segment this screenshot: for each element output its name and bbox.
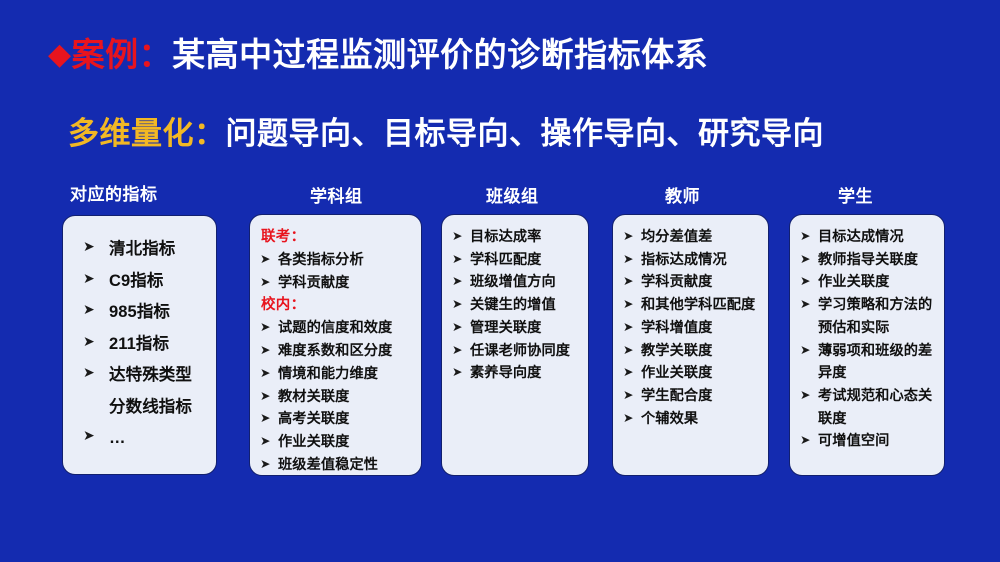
page-title-main: 某高中过程监测评价的诊断指标体系: [172, 38, 708, 74]
chevron-right-icon: ➤: [260, 455, 271, 474]
card-corresponding-indicators: ➤清北指标➤C9指标➤985指标➤211指标➤达特殊类型➤分数线指标➤…: [62, 215, 217, 475]
list-item[interactable]: ➤薄弱项和班级的差: [798, 341, 936, 363]
list-item[interactable]: ➤教师指导关联度: [798, 250, 936, 272]
chevron-right-icon: ➤: [623, 318, 634, 337]
list-item-label: 考试规范和心态关: [818, 388, 932, 404]
list-item[interactable]: ➤指标达成情况: [621, 250, 760, 272]
chevron-right-icon: ➤: [260, 318, 271, 337]
card-item-list: ➤清北指标➤C9指标➤985指标➤211指标➤达特殊类型➤分数线指标➤…: [75, 234, 208, 454]
list-item[interactable]: ➤各类指标分析: [258, 250, 413, 272]
list-item[interactable]: ➤作业关联度: [258, 432, 413, 454]
list-item[interactable]: ➤作业关联度: [798, 272, 936, 294]
chevron-right-icon: ➤: [800, 431, 811, 450]
list-item-label: 关键生的增值: [470, 297, 556, 313]
chevron-right-icon: ➤: [83, 234, 95, 260]
chevron-right-icon: ➤: [452, 272, 463, 291]
chevron-right-icon: ➤: [260, 341, 271, 360]
list-item[interactable]: ➤教材关联度: [258, 387, 413, 409]
list-item-label: 可增值空间: [818, 433, 889, 449]
list-item-label: 学科贡献度: [641, 274, 712, 290]
column-header-subject-group: 学科组: [310, 182, 363, 207]
list-item[interactable]: ➤学科增值度: [621, 318, 760, 340]
list-item[interactable]: ➤211指标: [75, 329, 208, 360]
chevron-right-icon: ➤: [452, 318, 463, 337]
list-item[interactable]: ➤和其他学科匹配度: [621, 295, 760, 317]
list-item[interactable]: ➤难度系数和区分度: [258, 341, 413, 363]
chevron-right-icon: ➤: [623, 386, 634, 405]
list-item-label: 预估和实际: [818, 320, 889, 336]
page-title-prefix: 案例：: [72, 38, 173, 74]
chevron-right-icon: ➤: [623, 341, 634, 360]
list-item-label: 联度: [818, 411, 847, 427]
list-item-label: 学科增值度: [641, 320, 712, 336]
list-item-label: 班级差值稳定性: [278, 457, 378, 473]
list-item-label: 薄弱项和班级的差: [818, 343, 932, 359]
list-item-label: 均分差值差: [641, 229, 712, 245]
list-item-label: 学生配合度: [641, 388, 712, 404]
list-item[interactable]: ➤学生配合度: [621, 386, 760, 408]
list-item[interactable]: ➤班级差值稳定性: [258, 455, 413, 476]
list-item[interactable]: ➤个辅效果: [621, 409, 760, 431]
list-item-label: 作业关联度: [278, 434, 349, 450]
list-item-label: 管理关联度: [470, 320, 541, 336]
card-student: ➤目标达成情况➤教师指导关联度➤作业关联度➤学习策略和方法的➤预估和实际➤薄弱项…: [789, 214, 945, 476]
list-item[interactable]: ➤素养导向度: [450, 363, 580, 385]
list-item[interactable]: ➤分数线指标: [75, 392, 208, 423]
chevron-right-icon: ➤: [83, 266, 95, 292]
chevron-right-icon: ➤: [452, 295, 463, 314]
card-section-heading: 校内：: [261, 295, 413, 316]
chevron-right-icon: ➤: [623, 227, 634, 246]
list-item[interactable]: ➤目标达成情况: [798, 227, 936, 249]
chevron-right-icon: ➤: [623, 272, 634, 291]
page-subtitle: 多维量化：问题导向、目标导向、操作导向、研究导向: [68, 108, 824, 153]
list-item-label: C9指标: [109, 272, 164, 290]
list-item[interactable]: ➤高考关联度: [258, 409, 413, 431]
list-item[interactable]: ➤试题的信度和效度: [258, 318, 413, 340]
chevron-right-icon: ➤: [83, 423, 95, 449]
list-item-label: 目标达成情况: [818, 229, 904, 245]
list-item[interactable]: ➤学科贡献度: [621, 272, 760, 294]
chevron-right-icon: ➤: [260, 387, 271, 406]
column-header-teacher: 教师: [665, 182, 700, 207]
card-subject-group: 联考：➤各类指标分析➤学科贡献度校内：➤试题的信度和效度➤难度系数和区分度➤情境…: [249, 214, 422, 476]
card-section-heading: 联考：: [261, 227, 413, 248]
chevron-right-icon: ➤: [623, 295, 634, 314]
chevron-right-icon: ➤: [800, 227, 811, 246]
list-item-label: 素养导向度: [470, 365, 541, 381]
list-item-label: 指标达成情况: [641, 252, 727, 268]
chevron-right-icon: ➤: [452, 227, 463, 246]
page-subtitle-main: 问题导向、目标导向、操作导向、研究导向: [226, 116, 825, 151]
chevron-right-icon: ➤: [260, 409, 271, 428]
chevron-right-icon: ➤: [623, 409, 634, 428]
chevron-right-icon: ➤: [800, 295, 811, 314]
list-item[interactable]: ➤班级增值方向: [450, 272, 580, 294]
page-subtitle-prefix: 多维量化：: [68, 116, 226, 151]
card-item-list: ➤目标达成情况➤教师指导关联度➤作业关联度➤学习策略和方法的➤预估和实际➤薄弱项…: [798, 227, 936, 453]
chevron-right-icon: ➤: [452, 250, 463, 269]
list-item-label: 教学关联度: [641, 343, 712, 359]
card-item-list: ➤各类指标分析➤学科贡献度: [258, 250, 413, 294]
list-item-label: 分数线指标: [109, 398, 192, 416]
list-item-label: 情境和能力维度: [278, 366, 378, 382]
list-item[interactable]: ➤考试规范和心态关: [798, 386, 936, 408]
list-item[interactable]: ➤联度: [798, 409, 936, 431]
chevron-right-icon: ➤: [800, 341, 811, 360]
chevron-right-icon: ➤: [83, 329, 95, 355]
list-item-label: 作业关联度: [641, 365, 712, 381]
list-item-label: 教材关联度: [278, 389, 349, 405]
list-item[interactable]: ➤…: [75, 423, 208, 454]
list-item-label: 达特殊类型: [109, 366, 192, 384]
chevron-right-icon: ➤: [260, 273, 271, 292]
list-item-label: 和其他学科匹配度: [641, 297, 755, 313]
chevron-right-icon: ➤: [83, 360, 95, 386]
list-item[interactable]: ➤学科匹配度: [450, 250, 580, 272]
chevron-right-icon: ➤: [800, 386, 811, 405]
chevron-right-icon: ➤: [452, 341, 463, 360]
list-item[interactable]: ➤教学关联度: [621, 341, 760, 363]
list-item-label: 试题的信度和效度: [278, 320, 392, 336]
chevron-right-icon: ➤: [623, 363, 634, 382]
chevron-right-icon: ➤: [623, 250, 634, 269]
list-item-label: 学科贡献度: [278, 275, 349, 291]
list-item-label: 异度: [818, 365, 847, 381]
list-item-label: 学科匹配度: [470, 252, 541, 268]
chevron-right-icon: ➤: [260, 250, 271, 269]
chevron-right-icon: ➤: [260, 364, 271, 383]
list-item-label: 高考关联度: [278, 411, 349, 427]
list-item-label: 作业关联度: [818, 274, 889, 290]
diamond-bullet-icon: ◆: [48, 38, 72, 71]
list-item[interactable]: ➤预估和实际: [798, 318, 936, 340]
list-item[interactable]: ➤目标达成率: [450, 227, 580, 249]
list-item[interactable]: ➤情境和能力维度: [258, 364, 413, 386]
list-item-label: 学习策略和方法的: [818, 297, 932, 313]
list-item-label: 目标达成率: [470, 229, 541, 245]
list-item-label: 985指标: [109, 303, 170, 321]
card-teacher: ➤均分差值差➤指标达成情况➤学科贡献度➤和其他学科匹配度➤学科增值度➤教学关联度…: [612, 214, 769, 476]
chevron-right-icon: ➤: [83, 297, 95, 323]
list-item-label: 任课老师协同度: [470, 343, 570, 359]
chevron-right-icon: ➤: [452, 363, 463, 382]
chevron-right-icon: ➤: [800, 272, 811, 291]
list-item[interactable]: ➤985指标: [75, 297, 208, 328]
column-header-student: 学生: [838, 182, 873, 207]
card-class-group: ➤目标达成率➤学科匹配度➤班级增值方向➤关键生的增值➤管理关联度➤任课老师协同度…: [441, 214, 589, 476]
list-item-label: 各类指标分析: [278, 252, 364, 268]
list-item[interactable]: ➤C9指标: [75, 266, 208, 297]
list-item[interactable]: ➤管理关联度: [450, 318, 580, 340]
slide-canvas: ◆案例：某高中过程监测评价的诊断指标体系 多维量化：问题导向、目标导向、操作导向…: [0, 0, 1000, 562]
list-item[interactable]: ➤作业关联度: [621, 363, 760, 385]
list-item-label: 清北指标: [109, 240, 175, 258]
chevron-right-icon: ➤: [260, 432, 271, 451]
column-header-class-group: 班级组: [486, 182, 539, 207]
card-item-list: ➤目标达成率➤学科匹配度➤班级增值方向➤关键生的增值➤管理关联度➤任课老师协同度…: [450, 227, 580, 385]
list-item-label: …: [109, 429, 126, 447]
list-item[interactable]: ➤任课老师协同度: [450, 341, 580, 363]
list-item[interactable]: ➤可增值空间: [798, 431, 936, 453]
list-item[interactable]: ➤异度: [798, 363, 936, 385]
list-item[interactable]: ➤关键生的增值: [450, 295, 580, 317]
card-item-list: ➤均分差值差➤指标达成情况➤学科贡献度➤和其他学科匹配度➤学科增值度➤教学关联度…: [621, 227, 760, 430]
list-item[interactable]: ➤清北指标: [75, 234, 208, 265]
column-header-corresponding-indicators: 对应的指标: [70, 180, 158, 205]
list-item[interactable]: ➤学习策略和方法的: [798, 295, 936, 317]
page-title: ◆案例：某高中过程监测评价的诊断指标体系: [48, 28, 708, 76]
list-item-label: 个辅效果: [641, 411, 698, 427]
list-item-label: 难度系数和区分度: [278, 343, 392, 359]
card-item-list: ➤试题的信度和效度➤难度系数和区分度➤情境和能力维度➤教材关联度➤高考关联度➤作…: [258, 318, 413, 476]
list-item[interactable]: ➤达特殊类型: [75, 360, 208, 391]
list-item-label: 211指标: [109, 335, 169, 353]
list-item-label: 班级增值方向: [470, 274, 556, 290]
list-item[interactable]: ➤学科贡献度: [258, 273, 413, 295]
list-item[interactable]: ➤均分差值差: [621, 227, 760, 249]
chevron-right-icon: ➤: [800, 250, 811, 269]
list-item-label: 教师指导关联度: [818, 252, 918, 268]
